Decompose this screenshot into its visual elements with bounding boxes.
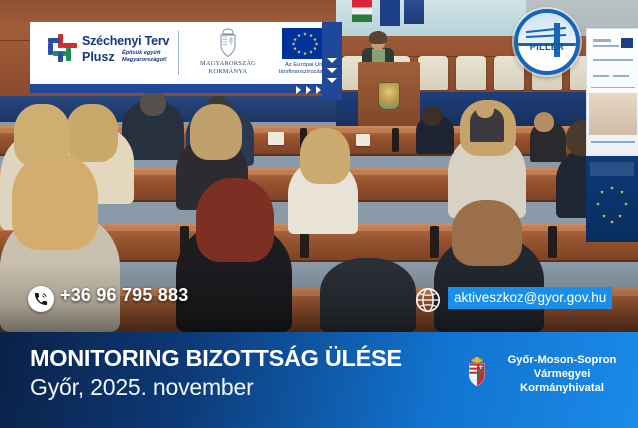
audience-head [476, 100, 494, 118]
szechenyi-plusz: Plusz [82, 50, 115, 64]
audience-head [140, 90, 166, 116]
office-label-line3: Kormányhivatal [520, 382, 604, 394]
banner-divider [178, 31, 179, 75]
chevron-arrow-icon [327, 78, 337, 83]
audience-head-front [196, 178, 274, 262]
piller-badge: PILLÉR [514, 9, 580, 75]
audience-head [190, 104, 242, 160]
poster-root: Széchenyi Terv Plusz Építsük együtt Magy… [0, 0, 638, 428]
hungarian-flag [352, 0, 372, 22]
hungary-label-line1: MAGYARORSZÁG [200, 60, 256, 67]
chevron-arrow-icon [296, 86, 301, 94]
globe-icon[interactable] [415, 287, 441, 313]
office-label-line1: Győr-Moson-Sopron [508, 354, 617, 366]
szechenyi-tagline: Építsük együtt Magyarországot! [122, 50, 167, 64]
audience-head [534, 112, 554, 132]
page-title: MONITORING BIZOTTSÁG ÜLÉSE [30, 345, 402, 372]
audience-head [66, 104, 118, 162]
piller-label: PILLÉR [518, 42, 576, 52]
email-address[interactable]: aktiveszkoz@gyor.gov.hu [448, 287, 612, 309]
audience-head [300, 128, 350, 184]
hungary-government-label: MAGYARORSZÁG KORMÁNYA [188, 60, 268, 75]
szechenyi-tagline-line1: Építsük együtt [122, 50, 161, 56]
phone-number: +36 96 795 883 [60, 285, 188, 306]
chevron-arrow-icon [306, 86, 311, 94]
page-subtitle: Győr, 2025. november [30, 374, 254, 401]
office-label-line2: Vármegyei [534, 368, 591, 380]
hungary-coat-of-arms-icon [216, 28, 240, 58]
hungary-coat-of-arms-icon [466, 357, 488, 387]
audience-head-front [452, 200, 522, 266]
szechenyi-pinwheel-icon [46, 34, 80, 68]
flag-drape [404, 0, 424, 24]
chevron-arrow-icon [327, 58, 337, 63]
szechenyi-tagline-line2: Magyarországot! [122, 57, 167, 63]
chevron-arrow-icon [327, 68, 337, 73]
audience-head [422, 106, 442, 126]
phone-icon[interactable] [28, 286, 54, 312]
rollup-banner-lower [586, 156, 638, 242]
speaker-hair [369, 31, 387, 44]
hungary-label-line2: KORMÁNYA [209, 68, 248, 75]
audience-head-front [12, 154, 98, 250]
funding-logo-banner: Széchenyi Terv Plusz Építsük együtt Magy… [30, 22, 342, 84]
eu-label-line1: Az Európai Unió [285, 62, 327, 68]
contact-row: +36 96 795 883 aktiveszkoz@gyor.gov.hu [0, 283, 638, 317]
footer-bar: MONITORING BIZOTTSÁG ÜLÉSE Győr, 2025. n… [0, 332, 638, 428]
rollup-banner [586, 28, 638, 158]
szechenyi-name: Széchenyi Terv [82, 35, 169, 48]
chevron-arrow-icon [316, 86, 321, 94]
office-label: Győr-Moson-Sopron Vármegyei Kormányhivat… [494, 353, 630, 395]
podium-city-crest [378, 82, 400, 110]
eu-flag-drape [380, 0, 400, 26]
